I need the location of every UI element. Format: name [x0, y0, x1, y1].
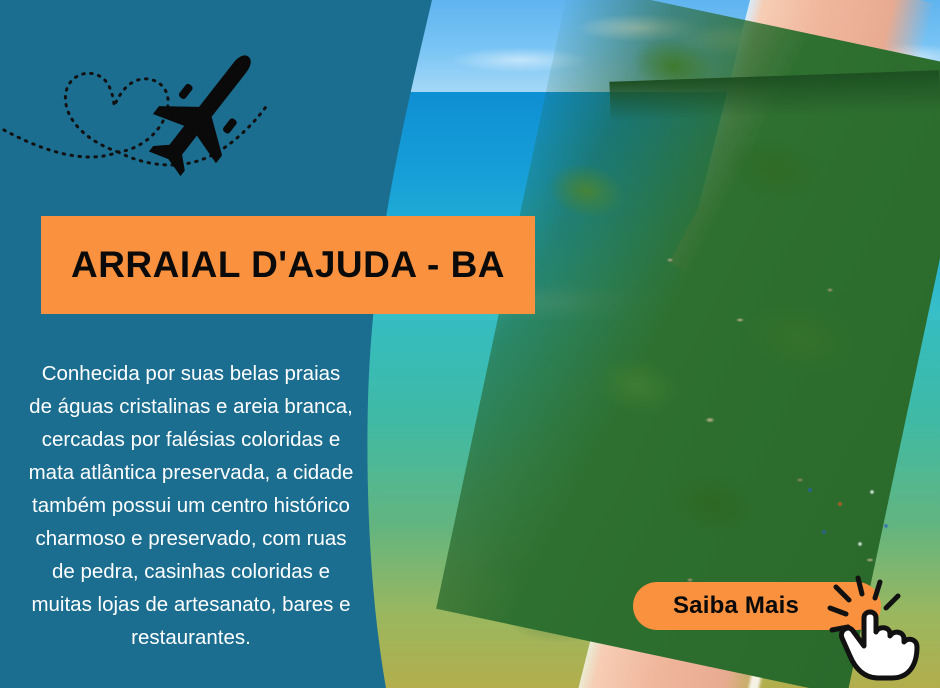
travel-promo-poster: ARRAIAL D'AJUDA - BA Conhecida por suas … [0, 0, 940, 688]
title-banner: ARRAIAL D'AJUDA - BA [41, 216, 535, 314]
page-title: ARRAIAL D'AJUDA - BA [71, 244, 505, 286]
saiba-mais-label: Saiba Mais [673, 592, 799, 620]
saiba-mais-button[interactable]: Saiba Mais [633, 582, 881, 630]
description-text: Conhecida por suas belas praias de águas… [28, 357, 354, 654]
beach-umbrellas [790, 470, 910, 600]
